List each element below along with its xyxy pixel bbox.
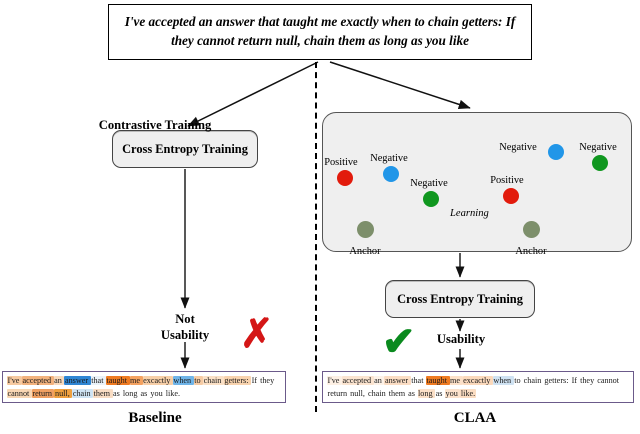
node-label-positive-before: Positive [324, 157, 358, 168]
token: answer [384, 376, 410, 385]
node-label-negative-after: Negative [579, 142, 617, 153]
token: excactly [463, 376, 493, 385]
token: chain [523, 376, 544, 385]
token: cannot [597, 376, 620, 385]
not-usability-label: Not Usability [140, 312, 230, 343]
cross-mark-icon: ✗ [240, 314, 274, 354]
usability-label: Usability [418, 332, 504, 348]
token: I've [7, 376, 22, 385]
token: to [514, 376, 523, 385]
node-label-negative-after: Negative [499, 142, 537, 153]
token: If [251, 376, 260, 385]
node-label-anchor-before: Anchor [349, 246, 380, 257]
token: accepted [342, 376, 374, 385]
token: when [173, 376, 194, 385]
token: they [260, 376, 275, 385]
node-positive-after [503, 188, 519, 204]
token: as [113, 389, 123, 398]
token: I've [327, 376, 342, 385]
token: taught [426, 376, 450, 385]
node-label-negative-before: Negative [410, 178, 448, 189]
token: chain [367, 389, 388, 398]
token: null, [350, 389, 368, 398]
token: an [54, 376, 65, 385]
baseline-output-text: I've accepted an answer that taught me e… [7, 375, 281, 400]
token: chain [72, 389, 93, 398]
token: to [194, 376, 203, 385]
token: like. [460, 389, 475, 398]
token: excactly [143, 376, 173, 385]
baseline-output-box: I've accepted an answer that taught me e… [2, 371, 286, 403]
branch-divider [315, 62, 317, 412]
arrow-top-to-baseline [188, 62, 318, 126]
caption-baseline: Baseline [90, 410, 220, 427]
token: them [93, 389, 112, 398]
node-negative-before [383, 166, 399, 182]
caption-claa: CLAA [410, 410, 540, 427]
token: me [450, 376, 463, 385]
token: return [327, 389, 350, 398]
token: as [408, 389, 418, 398]
token: as [435, 389, 445, 398]
token: long [122, 389, 140, 398]
claa-output-box: I've accepted an answer that taught me e… [322, 371, 634, 403]
cross-entropy-training-box-baseline[interactable]: Cross Entropy Training [112, 130, 258, 168]
source-sentence-box: I've accepted an answer that taught me e… [108, 4, 532, 60]
token: you [150, 389, 165, 398]
node-negative-before [423, 191, 439, 207]
token: getters: [224, 376, 251, 385]
token: answer [64, 376, 90, 385]
token: accepted [22, 376, 54, 385]
node-negative-after [592, 155, 608, 171]
cross-entropy-training-label-claa: Cross Entropy Training [397, 292, 523, 307]
token: that [411, 376, 426, 385]
token: return [32, 389, 55, 398]
learning-arrow-label: Learning [450, 208, 489, 219]
cross-entropy-training-box-claa[interactable]: Cross Entropy Training [385, 280, 535, 318]
node-anchor-before [357, 221, 374, 238]
token: you [445, 389, 460, 398]
token: cannot [7, 389, 32, 398]
node-label-negative-before: Negative [370, 153, 408, 164]
node-label-anchor-after: Anchor [515, 246, 546, 257]
token: getters: [544, 376, 571, 385]
token: me [130, 376, 143, 385]
source-sentence-text: I've accepted an answer that taught me e… [119, 13, 521, 50]
token: null, [54, 389, 72, 398]
token: when [493, 376, 514, 385]
node-negative-after [548, 144, 564, 160]
token: If [571, 376, 580, 385]
cross-entropy-training-label-baseline: Cross Entropy Training [122, 142, 248, 157]
token: them [388, 389, 407, 398]
token: chain [203, 376, 224, 385]
claa-output-text: I've accepted an answer that taught me e… [327, 375, 629, 400]
token: taught [106, 376, 130, 385]
token: that [91, 376, 106, 385]
arrow-top-to-contrastive [330, 62, 470, 108]
token: they [580, 376, 597, 385]
node-anchor-after [523, 221, 540, 238]
node-label-positive-after: Positive [490, 175, 524, 186]
node-positive-before [337, 170, 353, 186]
token: like. [165, 389, 180, 398]
token: long [418, 389, 436, 398]
token: an [374, 376, 385, 385]
token: as [140, 389, 150, 398]
contrastive-training-title: Contrastive Training [0, 118, 310, 133]
check-mark-icon: ✔ [382, 322, 416, 362]
